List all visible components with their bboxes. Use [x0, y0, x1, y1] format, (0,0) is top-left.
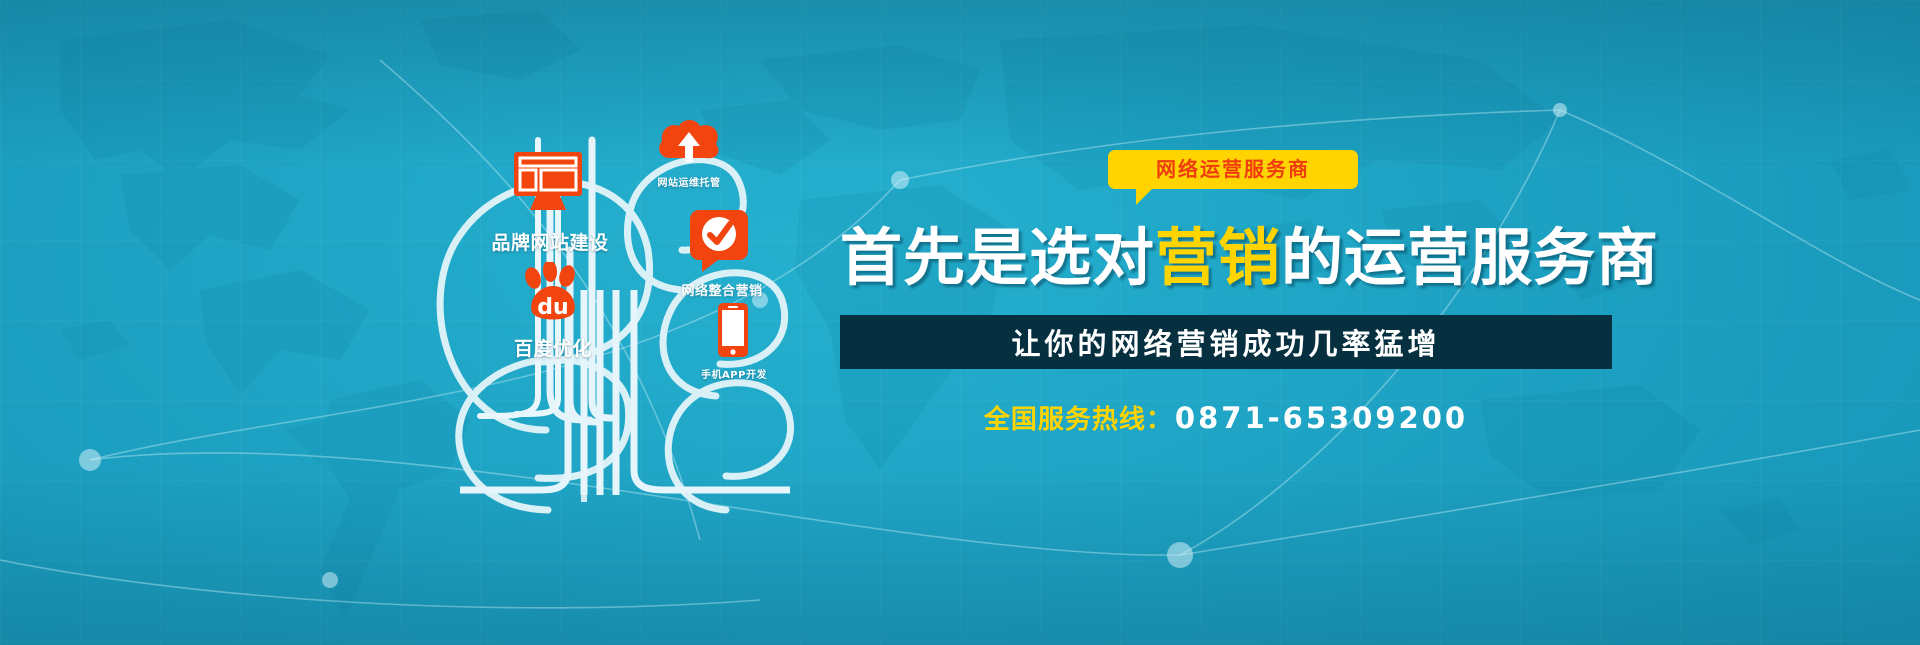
- subtitle-bar: 让你的网络营销成功几率猛增: [840, 315, 1612, 369]
- hotline-label: 全国服务热线：: [984, 405, 1173, 435]
- baidu-du-text: du: [537, 295, 568, 320]
- tagline-badge-text: 网络运营服务商: [1124, 159, 1342, 179]
- cloud-upload-icon: [656, 118, 722, 166]
- tree-label-brand-website: 品牌网站建设: [455, 228, 645, 255]
- tree-label-baidu-seo: 百度优化: [478, 334, 628, 361]
- hotline-number: 0871-65309200: [1175, 401, 1468, 435]
- check-bubble-icon: [688, 208, 754, 274]
- headline-highlight: 营销: [1155, 221, 1281, 294]
- tree-label-integrated-marketing: 网络整合营销: [672, 280, 772, 299]
- service-tree-graphic: 品牌网站建设 网站运维托管 网络整合营销: [420, 100, 820, 520]
- tagline-badge-tail: [1136, 188, 1153, 205]
- hotline: 全国服务热线：0871-65309200: [840, 399, 1612, 436]
- headline-part-1: 首先是选对: [840, 221, 1155, 294]
- headline-part-2: 的运营服务商: [1281, 221, 1659, 294]
- subtitle-text: 让你的网络营销成功几率猛增: [1011, 321, 1440, 363]
- mobile-phone-icon: [716, 302, 750, 358]
- tree-label-site-hosting: 网站运维托管: [646, 174, 732, 189]
- tree-label-app-development: 手机APP开发: [688, 366, 780, 381]
- monitor-icon: [510, 150, 586, 212]
- promo-banner: 品牌网站建设 网站运维托管 网络整合营销: [0, 0, 1920, 645]
- tagline-badge: 网络运营服务商: [1108, 150, 1358, 189]
- banner-content: 网络运营服务商 首先是选对营销的运营服务商 让你的网络营销成功几率猛增 全国服务…: [840, 150, 1640, 436]
- headline: 首先是选对营销的运营服务商: [840, 225, 1640, 291]
- baidu-paw-icon: du: [520, 262, 586, 324]
- tagline-badge-body: 网络运营服务商: [1108, 150, 1358, 189]
